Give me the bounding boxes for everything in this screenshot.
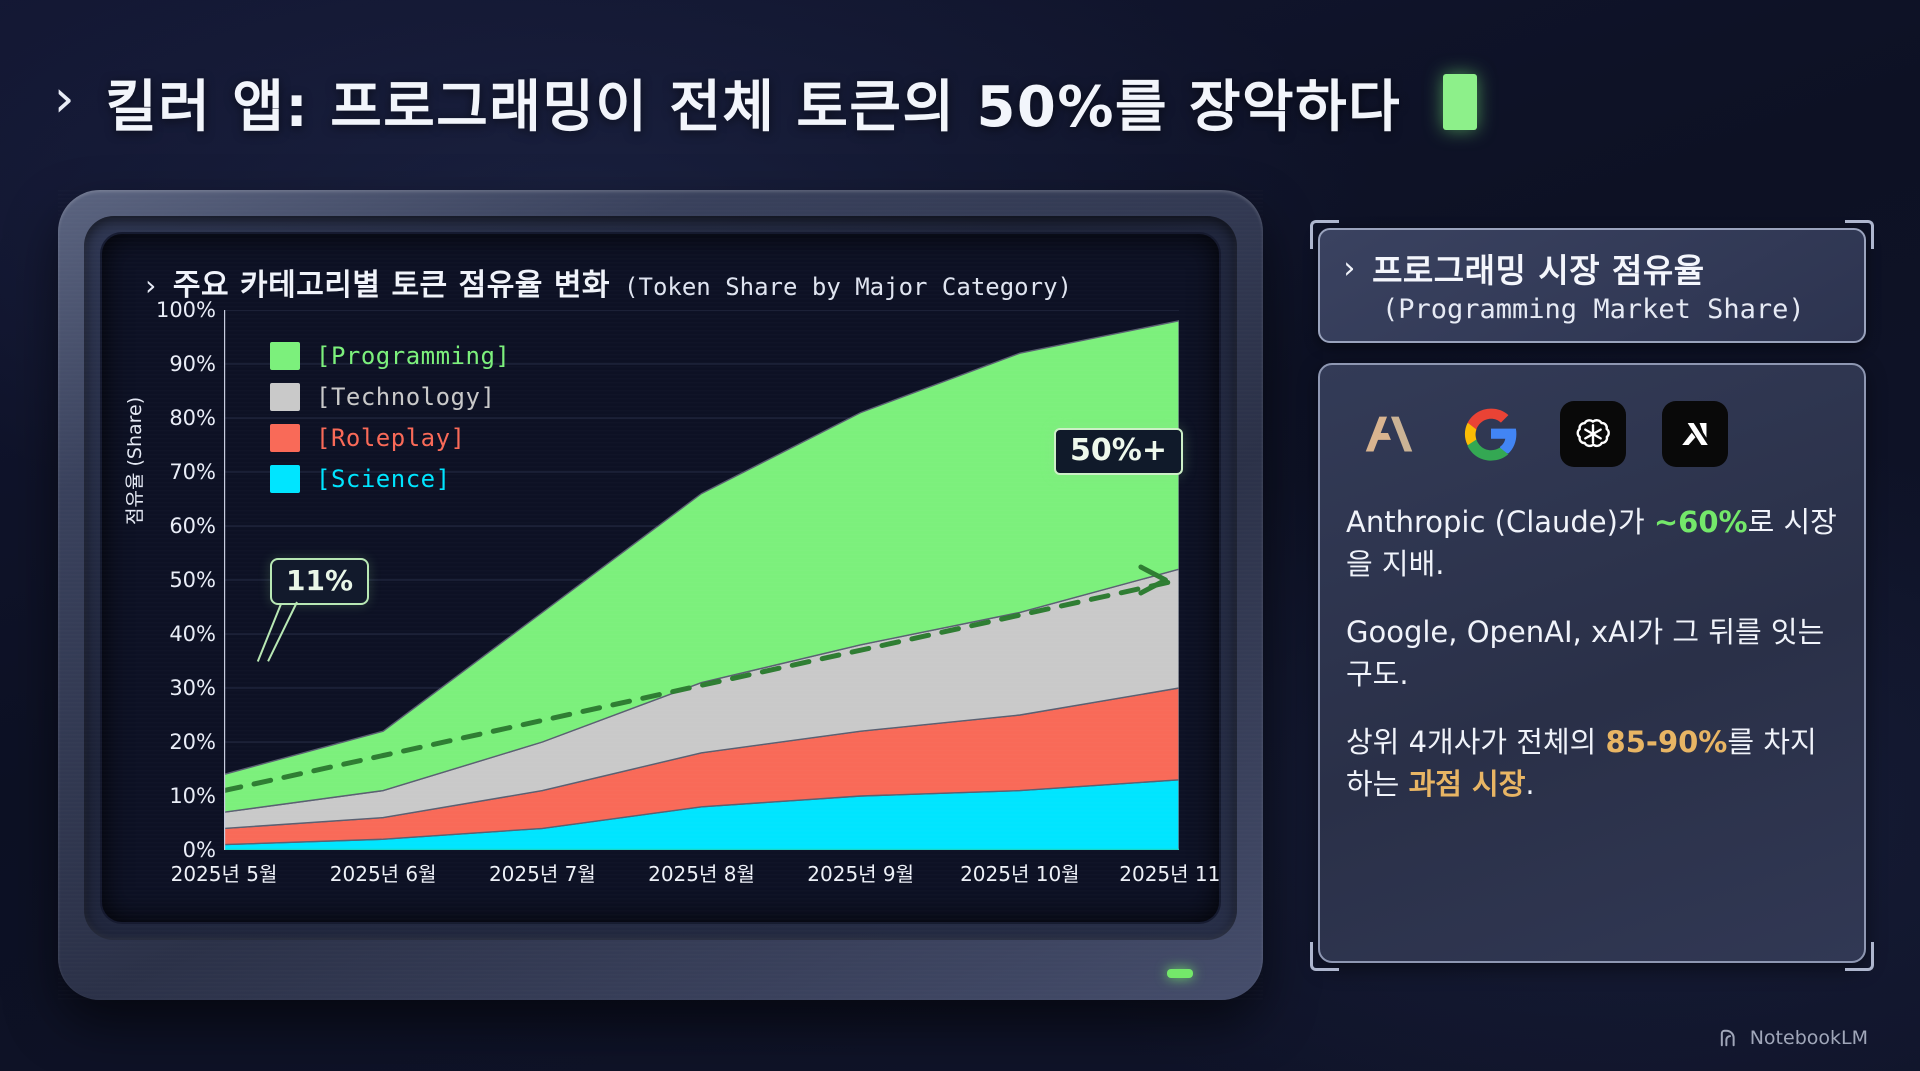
x-tick-label: 2025년 6월	[330, 858, 437, 887]
paragraph-anthropic: Anthropic (Claude)가 ~60%로 시장을 지배.	[1346, 501, 1838, 585]
annotation-end-badge: 50%+	[1054, 428, 1183, 475]
p3-text-a: 상위 4개사가 전체의	[1346, 725, 1606, 759]
x-axis-ticks: 2025년 5월2025년 6월2025년 7월2025년 8월2025년 9월…	[224, 858, 1179, 898]
plot-area: [Programming][Technology][Roleplay][Scie…	[224, 310, 1179, 850]
y-tick-label: 90%	[169, 352, 216, 376]
y-tick-label: 60%	[169, 514, 216, 538]
vendor-logo-row	[1356, 401, 1838, 467]
notebooklm-icon	[1719, 1028, 1741, 1048]
legend-item: [Technology]	[270, 383, 510, 411]
x-tick-label: 2025년 9월	[807, 858, 914, 887]
y-tick-label: 10%	[169, 784, 216, 808]
legend-label: [Roleplay]	[316, 424, 466, 452]
legend-swatch	[270, 465, 300, 493]
xai-logo	[1662, 401, 1728, 467]
paragraph-oligopoly: 상위 4개사가 전체의 85-90%를 차지하는 과점 시장.	[1346, 721, 1838, 805]
tv-monitor-frame: › 주요 카테고리별 토큰 점유율 변화 (Token Share by Maj…	[58, 190, 1263, 1000]
anthropic-logo	[1356, 401, 1422, 467]
legend-label: [Technology]	[316, 383, 495, 411]
page-title: 킬러 앱: 프로그래밍이 전체 토큰의 50%를 장악하다	[105, 62, 1401, 143]
chart-title-ko: 주요 카테고리별 토큰 점유율 변화	[173, 260, 610, 304]
side-panel-title-en: (Programming Market Share)	[1382, 294, 1844, 325]
legend-swatch	[270, 424, 300, 452]
tv-bezel: › 주요 카테고리별 토큰 점유율 변화 (Token Share by Maj…	[84, 216, 1237, 940]
tv-screen: › 주요 카테고리별 토큰 점유율 변화 (Token Share by Maj…	[102, 234, 1219, 922]
cursor-block-accent	[1443, 74, 1477, 130]
legend-item: [Programming]	[270, 342, 510, 370]
y-tick-label: 80%	[169, 406, 216, 430]
side-panel: › 프로그래밍 시장 점유율 (Programming Market Share…	[1318, 228, 1866, 986]
y-tick-label: 20%	[169, 730, 216, 754]
legend-item: [Science]	[270, 465, 510, 493]
y-tick-label: 100%	[156, 298, 216, 322]
x-tick-label: 2025년 5월	[171, 858, 278, 887]
y-tick-label: 40%	[169, 622, 216, 646]
annotation-start-label: 11%	[270, 558, 369, 605]
y-axis-label: 점유율 (Share)	[120, 397, 147, 525]
x-tick-label: 2025년 8월	[648, 858, 755, 887]
legend-item: [Roleplay]	[270, 424, 510, 452]
p1-before: Anthropic (Claude)가	[1346, 505, 1654, 539]
p3-highlight-share: 85-90%	[1606, 725, 1728, 759]
chart-title-en: (Token Share by Major Category)	[624, 273, 1072, 301]
x-tick-label: 2025년 10월	[960, 858, 1080, 887]
p3-highlight-market: 과점 시장	[1409, 767, 1526, 801]
slide-header: › 킬러 앱: 프로그래밍이 전체 토큰의 50%를 장악하다	[48, 48, 1748, 156]
notebooklm-watermark: NotebookLM	[1719, 1027, 1868, 1049]
side-panel-header: › 프로그래밍 시장 점유율 (Programming Market Share…	[1318, 228, 1866, 343]
y-tick-label: 70%	[169, 460, 216, 484]
side-panel-chevron-icon: ›	[1340, 251, 1358, 286]
annotation-start-callout: 11%	[270, 558, 369, 605]
side-panel-title-ko: 프로그래밍 시장 점유율	[1372, 244, 1705, 292]
p2-text: Google, OpenAI, xAI가 그 뒤를 잇는 구도.	[1346, 615, 1824, 691]
y-tick-label: 30%	[169, 676, 216, 700]
legend-swatch	[270, 342, 300, 370]
stacked-area-chart: 점유율 (Share) 0%10%20%30%40%50%60%70%80%90…	[124, 310, 1189, 922]
openai-logo	[1560, 401, 1626, 467]
y-axis-ticks: 0%10%20%30%40%50%60%70%80%90%100%	[144, 310, 216, 850]
x-tick-label: 2025년 7월	[489, 858, 596, 887]
notebooklm-label: NotebookLM	[1750, 1027, 1868, 1049]
chart-legend: [Programming][Technology][Roleplay][Scie…	[270, 342, 510, 506]
y-tick-label: 50%	[169, 568, 216, 592]
p1-highlight: ~60%	[1654, 505, 1748, 539]
power-led-indicator	[1167, 969, 1193, 978]
side-panel-body: Anthropic (Claude)가 ~60%로 시장을 지배. Google…	[1318, 363, 1866, 963]
google-logo	[1458, 401, 1524, 467]
chart-header: › 주요 카테고리별 토큰 점유율 변화 (Token Share by Maj…	[124, 260, 1189, 304]
header-chevron-icon: ›	[48, 73, 79, 125]
paragraph-competitors: Google, OpenAI, xAI가 그 뒤를 잇는 구도.	[1346, 611, 1838, 695]
legend-swatch	[270, 383, 300, 411]
legend-label: [Science]	[316, 465, 451, 493]
x-tick-label: 2025년 11월	[1119, 858, 1219, 887]
legend-label: [Programming]	[316, 342, 510, 370]
p3-text-c: .	[1525, 767, 1534, 801]
